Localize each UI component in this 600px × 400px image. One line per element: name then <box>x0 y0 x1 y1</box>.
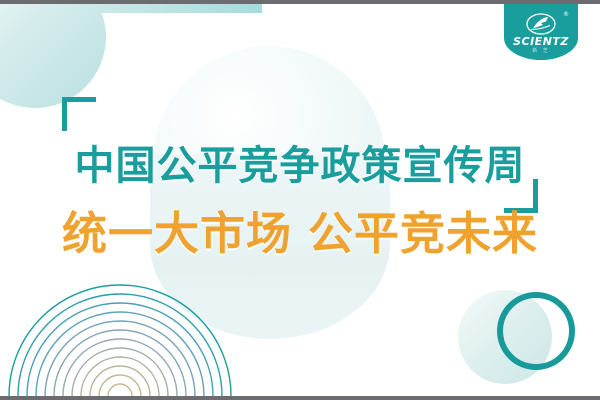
concentric-arcs-decoration <box>0 276 300 396</box>
brand-logo-badge[interactable]: SCIENTZ 新 芝 ® <box>504 4 578 60</box>
top-left-gradient-circle <box>0 0 106 108</box>
corner-bracket-top-left-icon <box>62 97 96 131</box>
scientz-emblem-icon <box>526 13 556 35</box>
bottom-right-gradient-circle <box>458 290 552 384</box>
brand-wordmark: SCIENTZ <box>513 36 569 48</box>
headline-block: 中国公平竞争政策宣传周 统一大市场公平竞未来 <box>0 140 600 264</box>
poster-title-secondary: 统一大市场公平竞未来 <box>0 204 600 264</box>
poster-subtitle-part-2: 公平竞未来 <box>308 207 538 260</box>
registered-trademark-icon: ® <box>563 11 569 18</box>
poster-title-primary: 中国公平竞争政策宣传周 <box>0 140 600 192</box>
brand-sub-wordmark: 新 芝 <box>532 48 550 54</box>
bottom-right-ring-circle <box>497 292 575 370</box>
top-teal-strip <box>0 4 262 13</box>
poster-subtitle-part-1: 统一大市场 <box>62 207 292 260</box>
poster-canvas: 中国公平竞争政策宣传周 统一大市场公平竞未来 SCIENTZ 新 芝 ® <box>0 0 600 400</box>
